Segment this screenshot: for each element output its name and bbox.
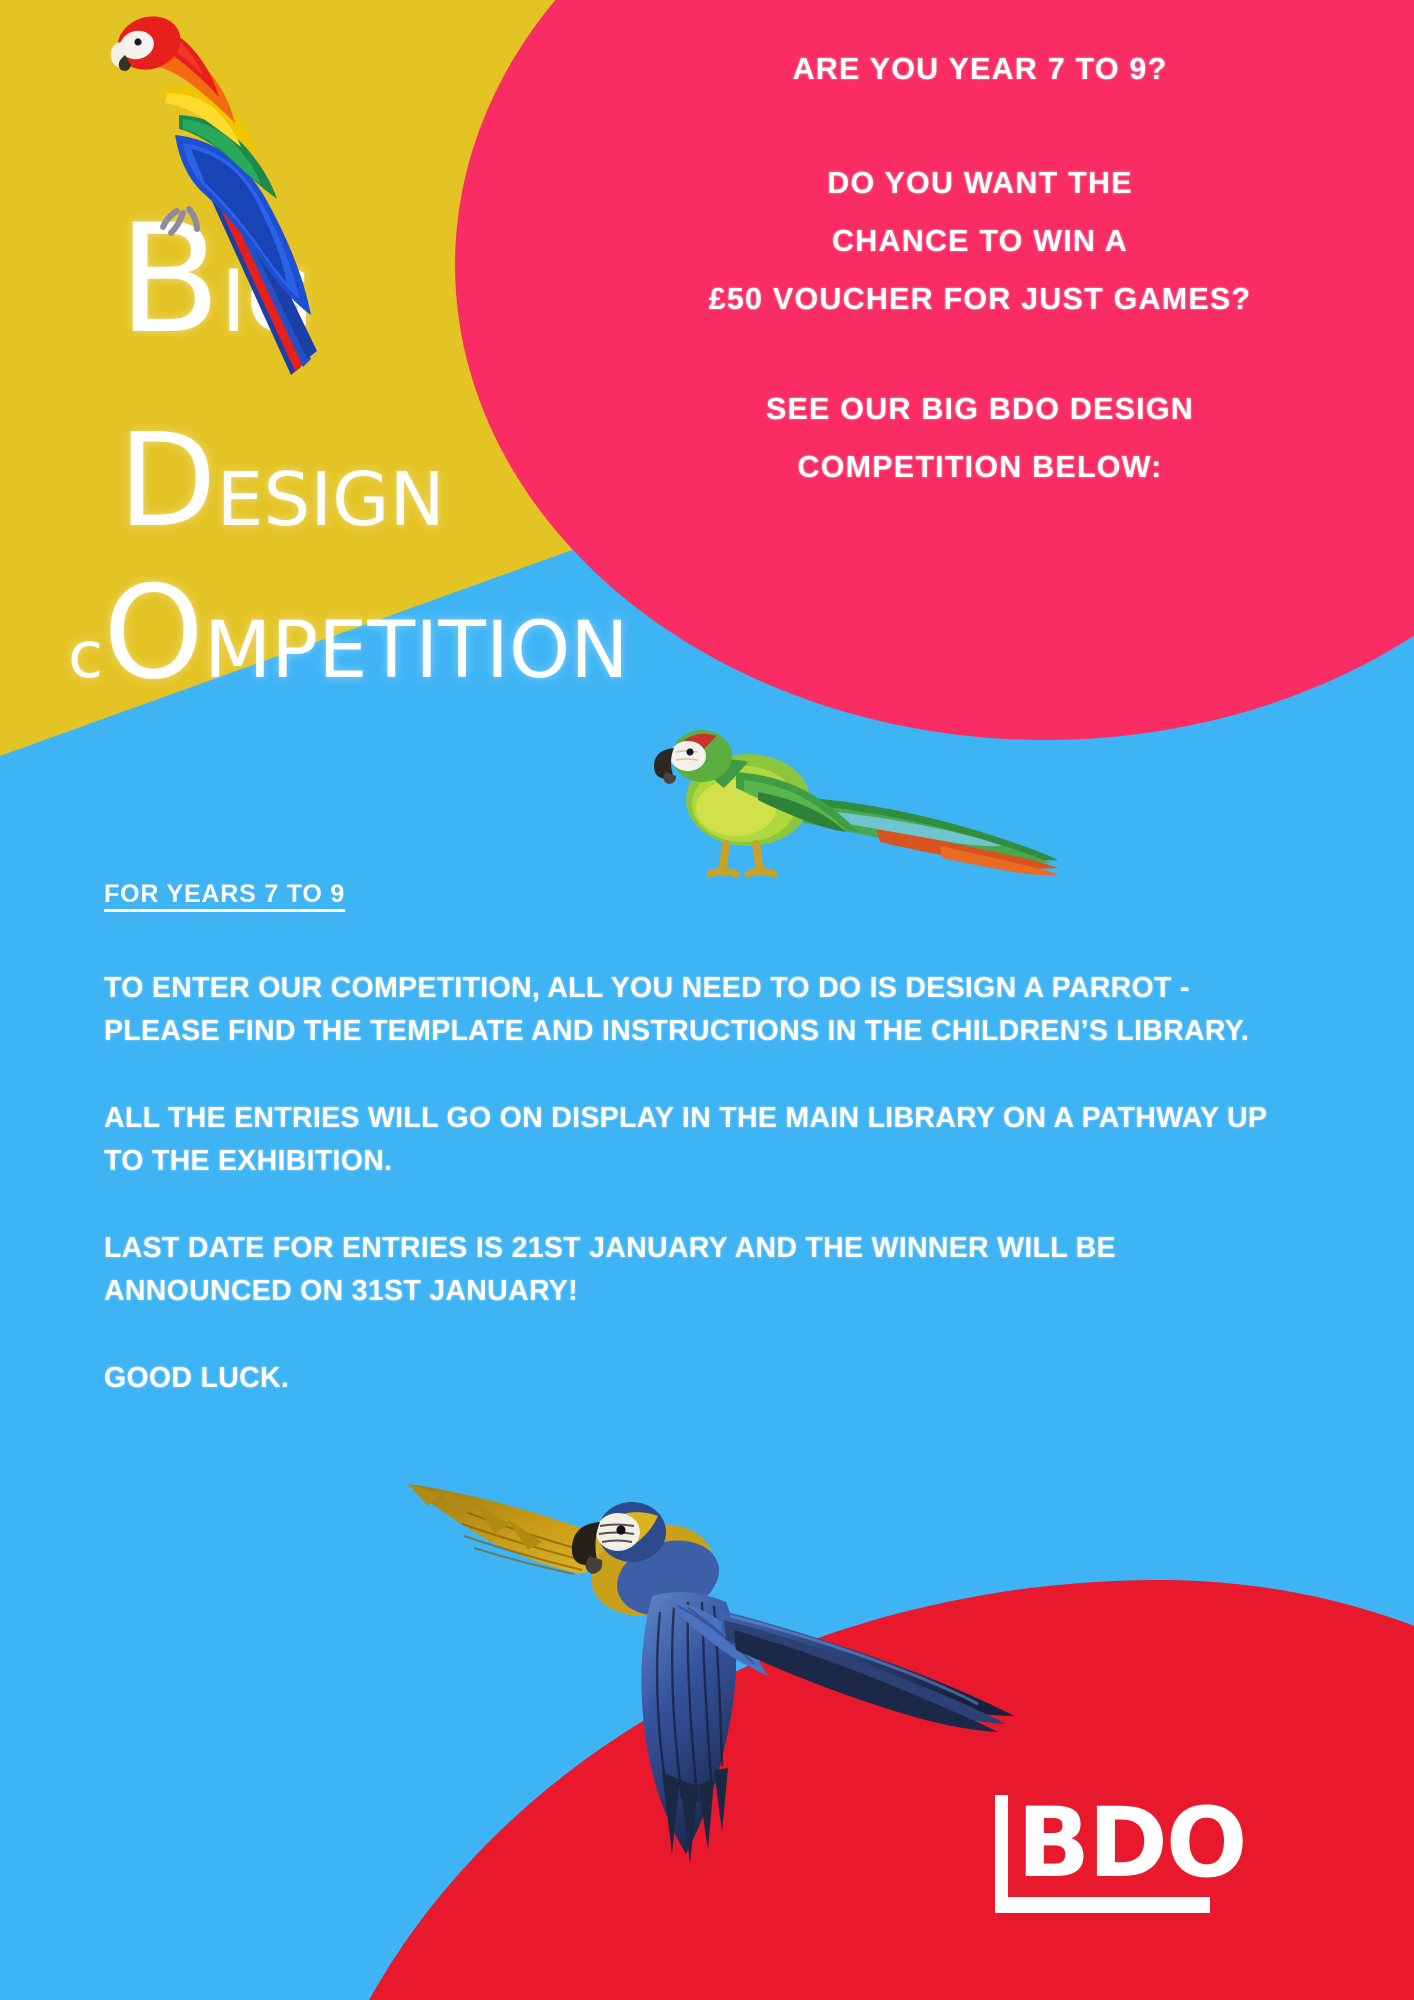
bdo-logo-letters: BDO — [1017, 1795, 1245, 1891]
scarlet-macaw-illustration — [105, 15, 335, 405]
bdo-logo-left-bar — [995, 1795, 1008, 1907]
title-competition-lowercase: c — [68, 619, 103, 693]
bdo-logo-underline-bar — [995, 1897, 1210, 1913]
body-paragraph-2: ALL THE ENTRIES WILL GO ON DISPLAY IN TH… — [104, 1097, 1284, 1183]
header-spacer-1 — [560, 98, 1400, 154]
title-design-capital: D — [118, 407, 217, 556]
poster-canvas: ARE YOU YEAR 7 TO 9? DO YOU WANT THE CHA… — [0, 0, 1414, 2000]
title-competition-capital: O — [103, 559, 204, 708]
bdo-logo-mark: BDO — [995, 1795, 1245, 1891]
body-text-block: FOR YEARS 7 TO 9 TO ENTER OUR COMPETITIO… — [104, 880, 1284, 1400]
flying-macaw-illustration — [400, 1450, 1060, 1870]
header-line-1: ARE YOU YEAR 7 TO 9? — [560, 40, 1400, 98]
header-spacer-2 — [560, 328, 1400, 380]
title-competition-rest: MPETITION — [204, 606, 629, 696]
title-word-competition: cOMPETITION — [68, 578, 629, 712]
header-line-5: SEE OUR BIG BDO DESIGN — [560, 380, 1400, 438]
body-paragraph-4: GOOD LUCK. — [104, 1357, 1284, 1400]
body-paragraph-3: LAST DATE FOR ENTRIES IS 21ST JANUARY AN… — [104, 1227, 1284, 1313]
header-line-6: COMPETITION BELOW: — [560, 438, 1400, 496]
body-subheading: FOR YEARS 7 TO 9 — [104, 880, 345, 909]
title-design-rest: ESIGN — [217, 457, 445, 543]
header-line-4: £50 VOUCHER FOR JUST GAMES? — [560, 270, 1400, 328]
title-word-design: DESIGN — [118, 418, 445, 564]
bdo-logo: BDO — [995, 1795, 1245, 1913]
body-paragraph-1: TO ENTER OUR COMPETITION, ALL YOU NEED T… — [104, 967, 1284, 1053]
header-line-2: DO YOU WANT THE — [560, 154, 1400, 212]
great-green-macaw-illustration — [640, 700, 1070, 920]
header-text-block: ARE YOU YEAR 7 TO 9? DO YOU WANT THE CHA… — [560, 40, 1400, 496]
header-line-3: CHANCE TO WIN A — [560, 212, 1400, 270]
